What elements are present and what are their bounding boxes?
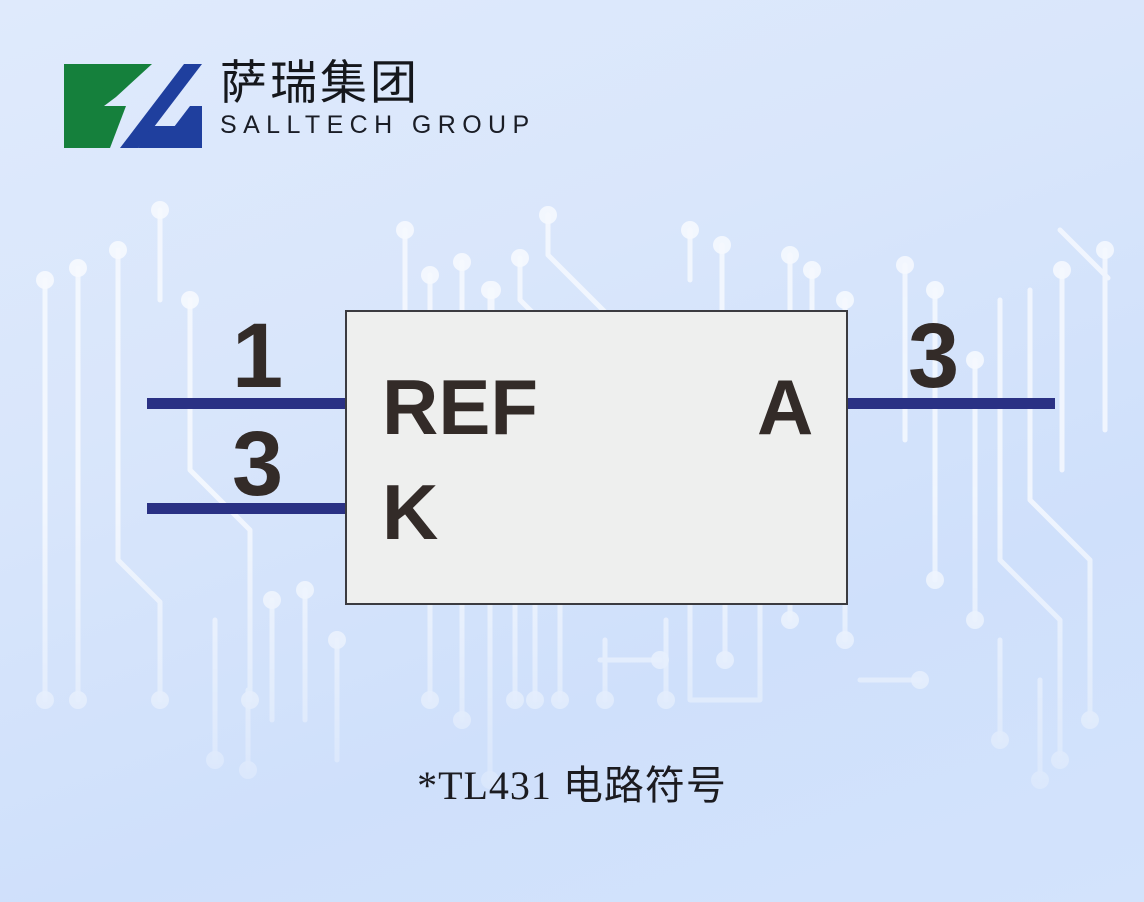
wire-pin3-a: [842, 398, 1055, 409]
company-name-en: SALLTECH GROUP: [220, 111, 536, 139]
brand-logo: 萨瑞集团 SALLTECH GROUP: [60, 58, 536, 154]
company-name-cn: 萨瑞集团: [220, 58, 536, 110]
pin-number-3-left: 3: [232, 418, 283, 510]
port-label-a: A: [757, 368, 813, 446]
port-label-k: K: [382, 473, 438, 551]
brand-text: 萨瑞集团 SALLTECH GROUP: [220, 58, 536, 139]
wire-pin3-k: [147, 503, 352, 514]
wire-pin1-ref: [147, 398, 352, 409]
pin-number-3-right: 3: [908, 310, 959, 402]
port-label-ref: REF: [382, 368, 538, 446]
figure-caption: *TL431 电路符号: [0, 762, 1144, 810]
salltech-logo-icon: [60, 58, 206, 154]
pin-number-1: 1: [232, 310, 283, 402]
tl431-symbol-slide: 萨瑞集团 SALLTECH GROUP 1 3 3 REF K A *TL431…: [0, 0, 1144, 902]
ic-body-box: [345, 310, 848, 605]
